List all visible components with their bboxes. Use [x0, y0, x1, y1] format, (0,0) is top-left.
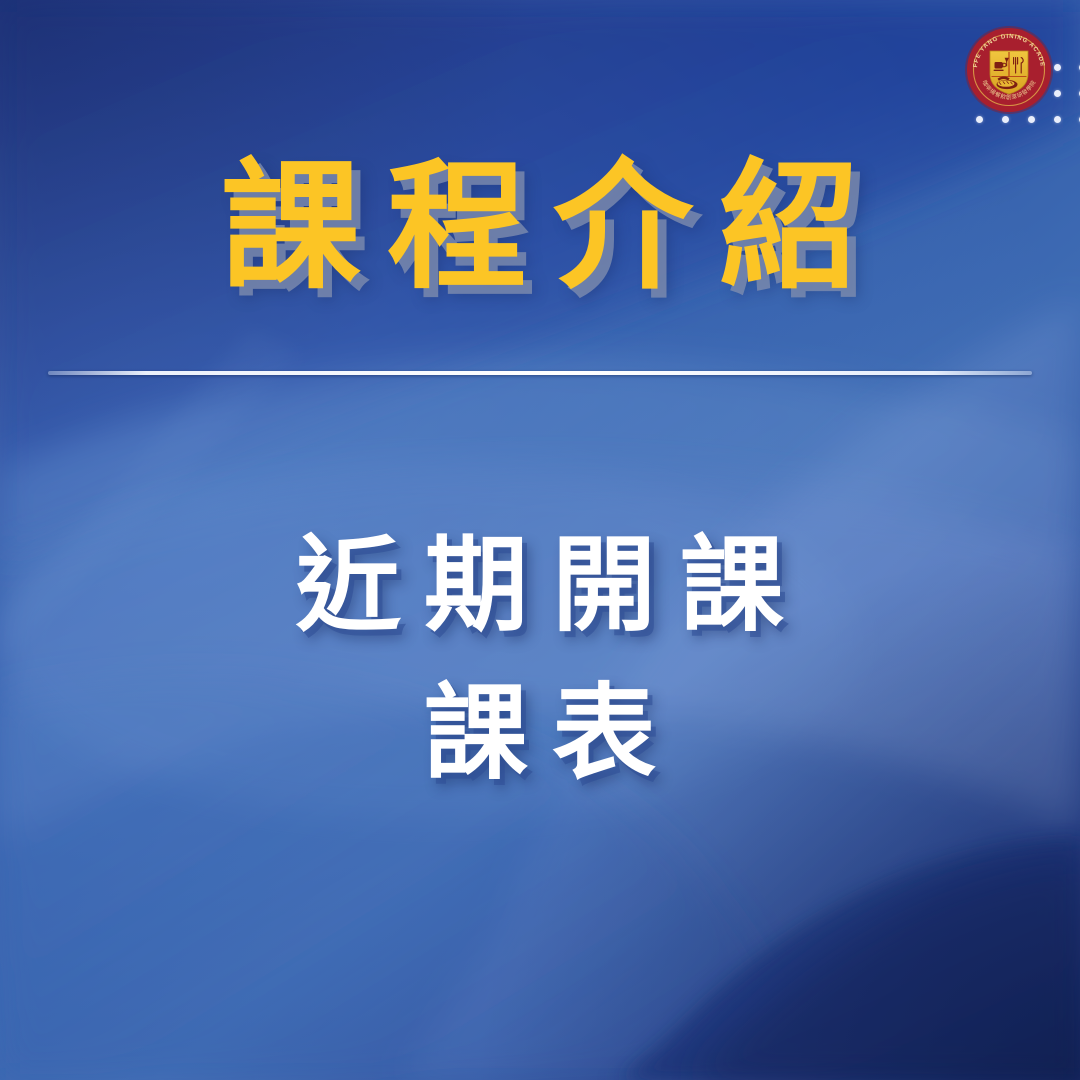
academy-logo: CAFFE YANG DINING ACADEMY 咖啡揚餐飲創意研發學院 [963, 24, 1055, 116]
page-title: 課程介紹 [195, 150, 885, 307]
course-intro-slide: CAFFE YANG DINING ACADEMY 咖啡揚餐飲創意研發學院 [0, 0, 1080, 1080]
subtitle-line-2: 課表 [0, 660, 1080, 808]
subtitle-block: 近期開課 課表 [0, 512, 1080, 807]
coffee-cup-icon [995, 62, 1003, 69]
title-divider [48, 371, 1032, 375]
title-block: 課程介紹 [0, 150, 1080, 307]
subtitle-line-1: 近期開課 [0, 512, 1080, 660]
